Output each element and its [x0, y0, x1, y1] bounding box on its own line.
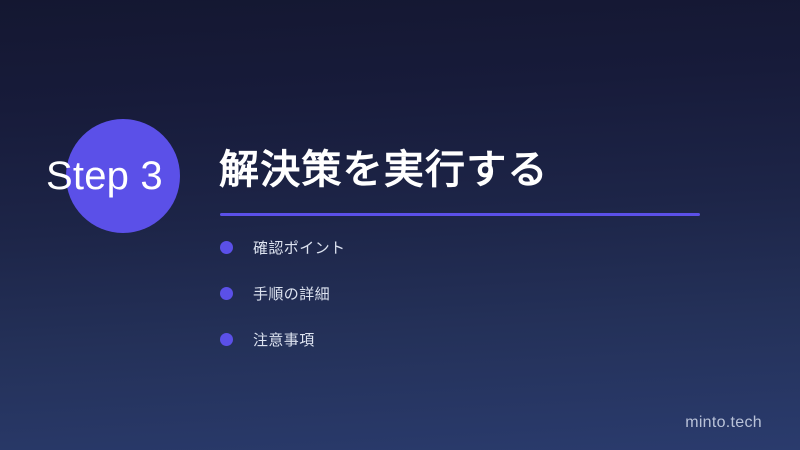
footer-brand: minto.tech	[685, 414, 762, 432]
bullet-item-label: 確認ポイント	[253, 237, 345, 258]
list-item: 手順の詳細	[220, 280, 345, 307]
title-divider	[220, 213, 700, 216]
list-item: 確認ポイント	[220, 234, 345, 261]
presentation-slide: Step 3 解決策を実行する 確認ポイント 手順の詳細 注意事項 minto.…	[0, 0, 800, 450]
bullet-dot-icon	[220, 241, 233, 254]
bullet-list: 確認ポイント 手順の詳細 注意事項	[220, 234, 345, 372]
bullet-item-label: 手順の詳細	[253, 283, 330, 304]
list-item: 注意事項	[220, 326, 345, 353]
bullet-item-label: 注意事項	[253, 329, 315, 350]
bullet-dot-icon	[220, 333, 233, 346]
slide-title: 解決策を実行する	[219, 145, 549, 195]
step-badge-label: Step 3	[46, 152, 163, 200]
bullet-dot-icon	[220, 287, 233, 300]
